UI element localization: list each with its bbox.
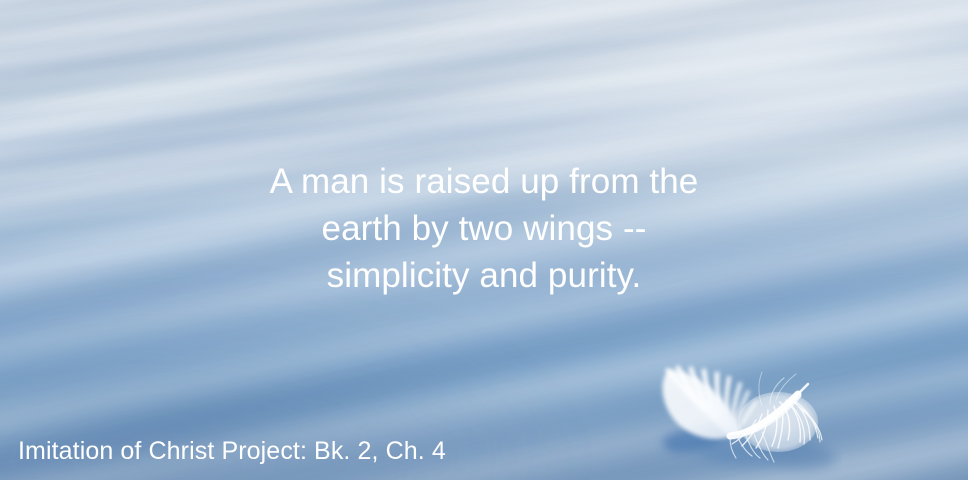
quote-slide: A man is raised up from the earth by two… bbox=[0, 0, 968, 480]
attribution-caption: Imitation of Christ Project: Bk. 2, Ch. … bbox=[18, 436, 446, 466]
quote-text: A man is raised up from the earth by two… bbox=[0, 158, 968, 299]
